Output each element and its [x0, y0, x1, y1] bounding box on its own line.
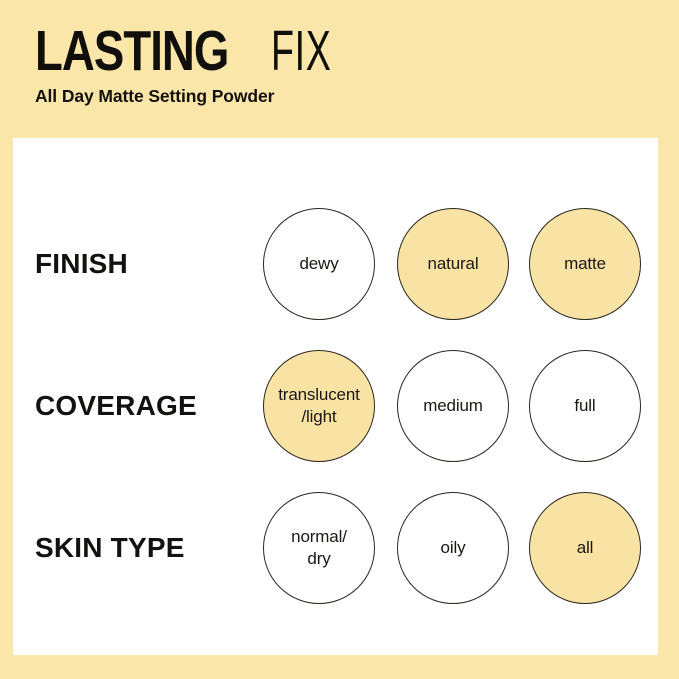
product-title-primary: LASTING [35, 26, 228, 76]
option-label: full [574, 395, 595, 417]
option-label: all [577, 537, 594, 559]
option-bubble-finish-matte[interactable]: matte [529, 208, 641, 320]
option-bubble-coverage-full[interactable]: full [529, 350, 641, 462]
product-title: LASTING FIX [35, 24, 362, 76]
option-bubble-coverage-translucent-light[interactable]: translucent /light [263, 350, 375, 462]
option-label: dewy [299, 253, 338, 275]
option-bubble-finish-natural[interactable]: natural [397, 208, 509, 320]
option-label: normal/ dry [291, 526, 347, 571]
product-subtitle: All Day Matte Setting Powder [35, 86, 362, 107]
option-bubble-skin-type-oily[interactable]: oily [397, 492, 509, 604]
option-label: natural [428, 253, 479, 275]
option-label: matte [564, 253, 606, 275]
option-label: medium [423, 395, 483, 417]
product-title-secondary: FIX [271, 26, 332, 76]
option-label: translucent /light [278, 384, 360, 429]
header-band: LASTING FIX All Day Matte Setting Powder [0, 0, 679, 138]
option-bubble-skin-type-normal-dry[interactable]: normal/ dry [263, 492, 375, 604]
row-label-finish: FINISH [35, 208, 128, 320]
product-infographic: LASTING FIX All Day Matte Setting Powder… [0, 0, 679, 679]
attribute-row-skin-type: SKIN TYPE normal/ dry oily all [13, 492, 658, 604]
option-bubble-skin-type-all[interactable]: all [529, 492, 641, 604]
attribute-row-coverage: COVERAGE translucent /light medium full [13, 350, 658, 462]
title-block: LASTING FIX All Day Matte Setting Powder [35, 24, 362, 107]
option-label: oily [441, 537, 466, 559]
option-bubble-finish-dewy[interactable]: dewy [263, 208, 375, 320]
attribute-matrix-panel: FINISH dewy natural matte COVERAGE trans… [13, 138, 658, 655]
row-label-skin-type: SKIN TYPE [35, 492, 185, 604]
row-label-coverage: COVERAGE [35, 350, 197, 462]
attribute-row-finish: FINISH dewy natural matte [13, 208, 658, 320]
option-bubble-coverage-medium[interactable]: medium [397, 350, 509, 462]
